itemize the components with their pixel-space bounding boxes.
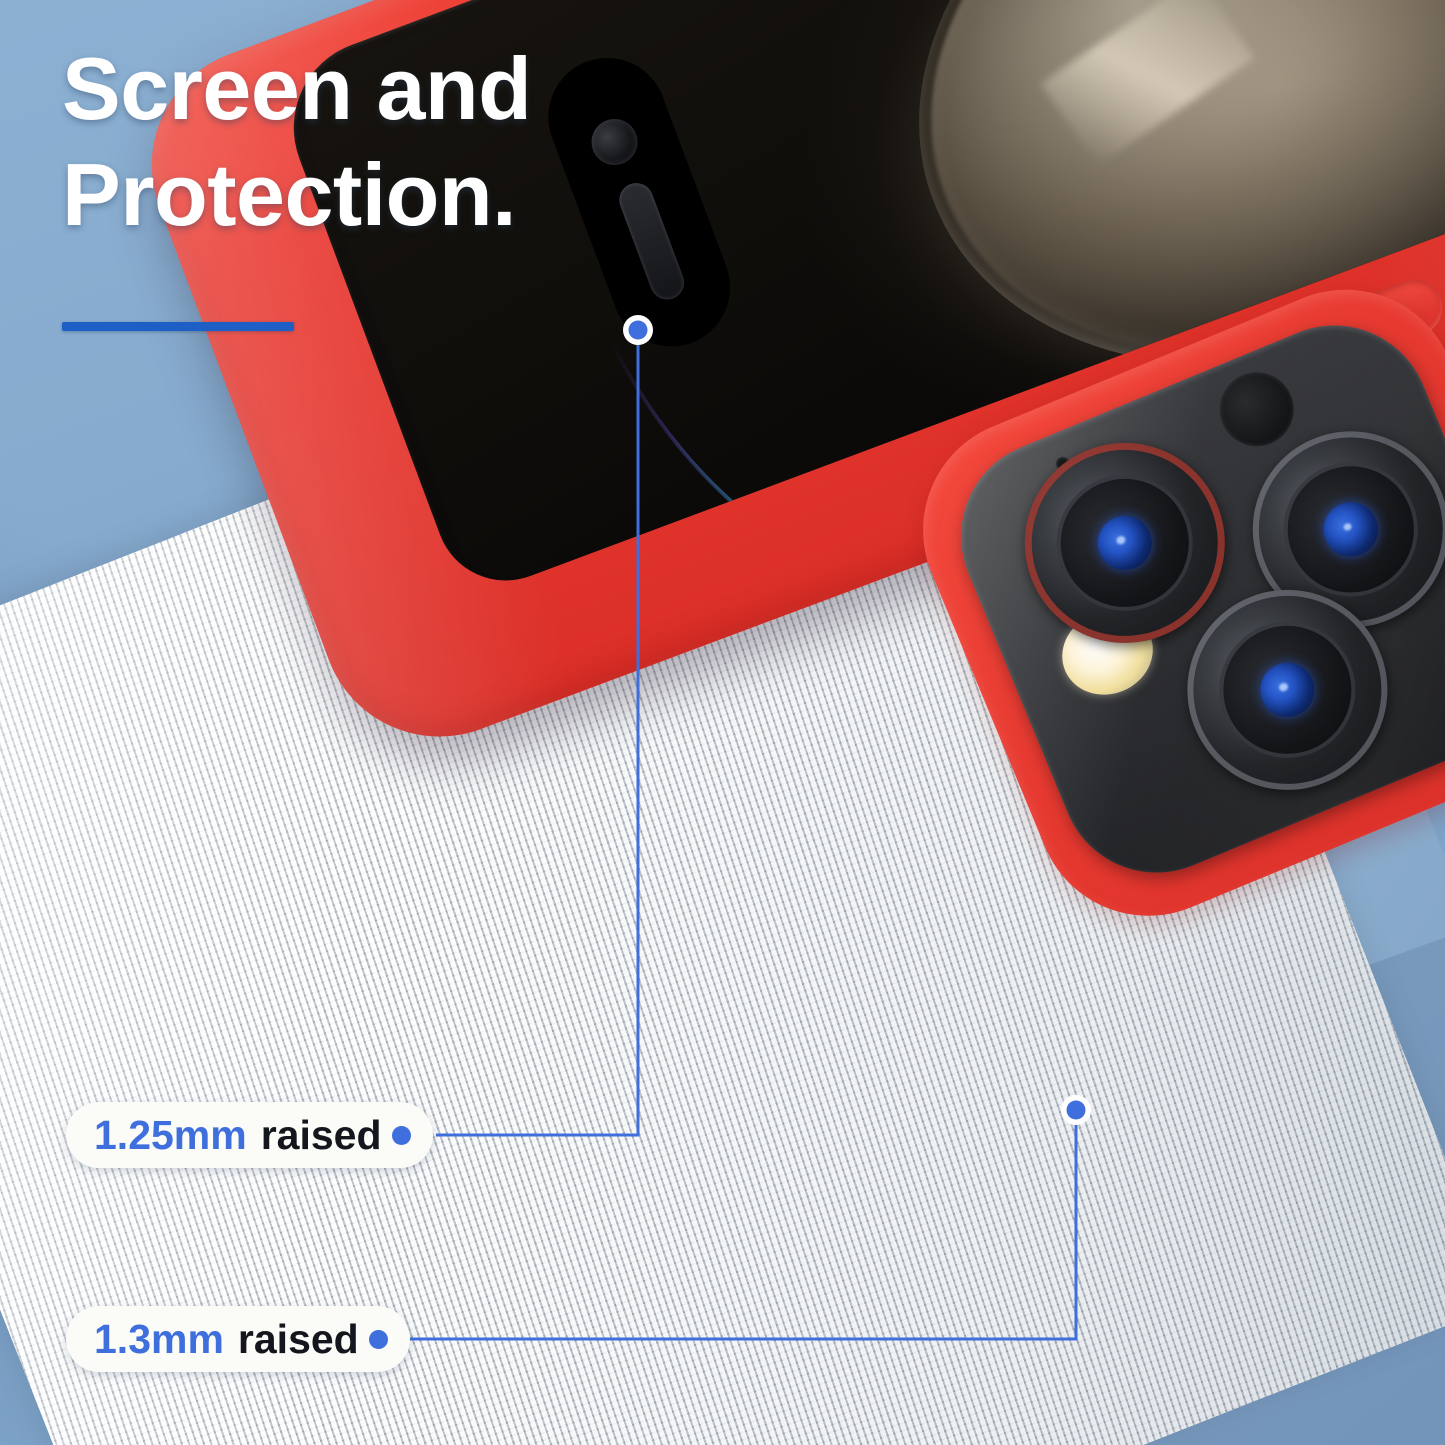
callout-label-screen-lip: 1.25mm raised bbox=[66, 1102, 433, 1168]
anchor-dot-camera-lip bbox=[1067, 1101, 1086, 1120]
leader-line-camera-lip bbox=[402, 1113, 1076, 1339]
title-underline-rule bbox=[62, 322, 294, 331]
callout-word-screen-lip: raised bbox=[261, 1112, 382, 1159]
leader-line-screen-lip bbox=[436, 332, 638, 1135]
anchor-dot-screen-lip bbox=[629, 321, 648, 340]
callout-word-camera-lip: raised bbox=[238, 1316, 359, 1363]
product-marketing-image: Screen and Protection. 1.25mm raised 1.3… bbox=[0, 0, 1445, 1445]
callout-value-screen-lip: 1.25mm bbox=[94, 1112, 247, 1159]
callout-dot-camera-lip bbox=[369, 1330, 388, 1349]
callout-value-camera-lip: 1.3mm bbox=[94, 1316, 224, 1363]
callout-label-camera-lip: 1.3mm raised bbox=[66, 1306, 410, 1372]
callout-dot-screen-lip bbox=[392, 1126, 411, 1145]
page-title: Screen and Protection. bbox=[62, 36, 1062, 247]
